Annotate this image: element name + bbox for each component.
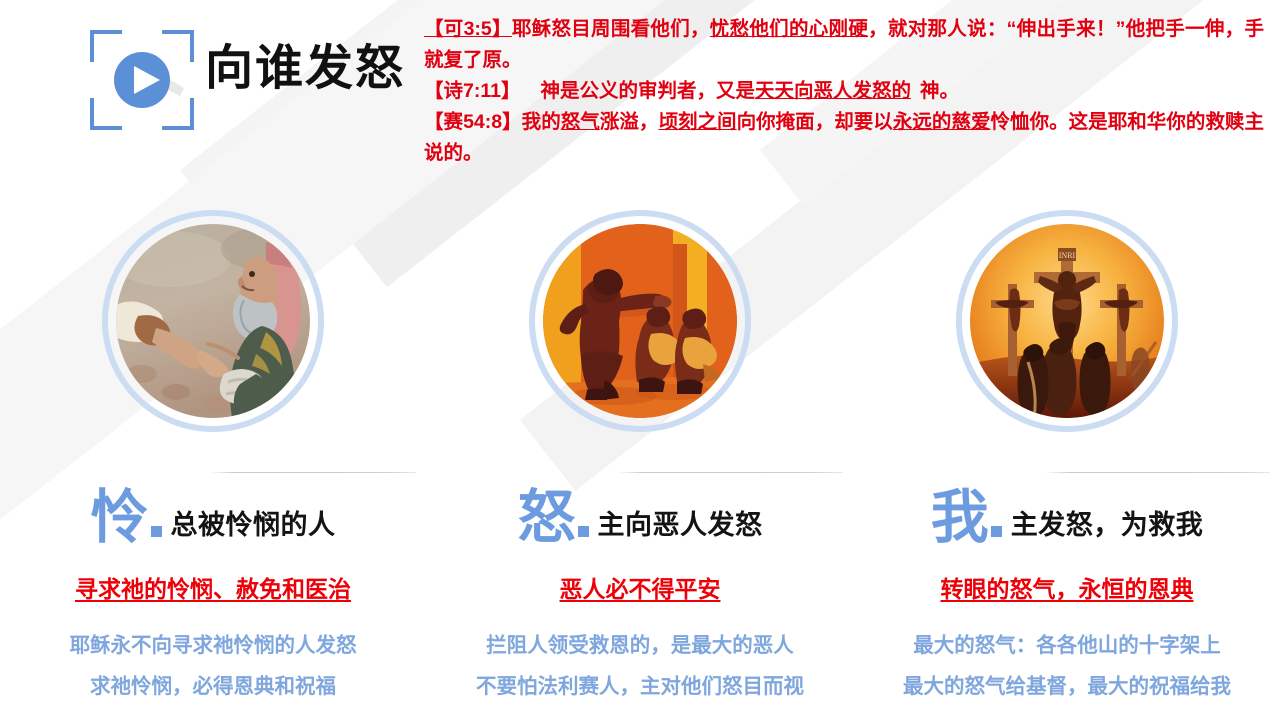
scripture-underline-3b: 顷刻之间: [658, 111, 736, 133]
scripture-ref-2: 【诗7:11】: [424, 80, 520, 102]
scripture-text-2b: 神。: [920, 80, 959, 102]
image-ring-2: [529, 210, 751, 432]
scripture-underline-3a: 怒气: [561, 111, 600, 133]
square-bullet-icon: [578, 526, 589, 537]
heading-divider-1: [210, 472, 416, 473]
scripture-verse-1: 【可3:5】耶稣怒目周围看他们，忧愁他们的心刚硬，就对那人说：“伸出手来！”他把…: [424, 14, 1264, 76]
scripture-verse-2: 【诗7:11】神是公义的审判者，又是天天向恶人发怒的神。: [424, 76, 1264, 107]
column-2: 怒 主向恶人发怒 恶人必不得平安 拦阻人领受救恩的，是最大的恶人 不要怕法利赛人…: [427, 180, 853, 720]
blue-notes-3: 最大的怒气：各各他山的十字架上 最大的怒气给基督，最大的祝福给我: [854, 625, 1280, 707]
square-bullet-icon: [991, 526, 1002, 537]
square-bullet-icon: [151, 526, 162, 537]
scripture-text-3c: 向你掩面，却要以: [737, 111, 893, 133]
column-1: 怜 总被怜悯的人 寻求祂的怜悯、赦免和医治 耶稣永不向寻求祂怜悯的人发怒 求祂怜…: [0, 180, 426, 720]
big-char-3: 我: [931, 491, 989, 544]
big-char-2: 怒: [517, 491, 575, 544]
scripture-verse-3: 【赛54:8】我的怒气涨溢，顷刻之间向你掩面，却要以永远的慈爱怜恤你。这是耶和华…: [424, 107, 1264, 169]
scripture-underline-2a: 天天向恶人发怒的: [755, 80, 911, 102]
red-statement-1: 寻求祂的怜悯、赦免和医治: [0, 570, 426, 604]
scripture-underline-3c: 永远的慈爱: [893, 111, 991, 133]
scripture-text-2a: 神是公义的审判者，又是: [540, 80, 755, 102]
scripture-block: 【可3:5】耶稣怒目周围看他们，忧愁他们的心刚硬，就对那人说：“伸出手来！”他把…: [424, 14, 1264, 169]
heading-divider-2: [617, 472, 843, 473]
blue-note-line: 求祂怜悯，必得恩典和祝福: [0, 666, 426, 707]
blue-notes-1: 耶稣永不向寻求祂怜悯的人发怒 求祂怜悯，必得恩典和祝福: [0, 625, 426, 707]
circle-image-1: [102, 210, 324, 432]
image-ring-1: [102, 210, 324, 432]
play-button-in-frame-icon: [88, 26, 196, 134]
heading-divider-3: [1044, 472, 1270, 473]
scripture-text-1a: 耶稣怒目周围看他们，: [512, 18, 710, 40]
circle-image-3: INRI: [956, 210, 1178, 432]
heading-row-2: 怒 主向恶人发怒: [427, 480, 853, 544]
sub-heading-2: 主向恶人发怒: [598, 512, 763, 544]
slide-header: 向谁发怒 【可3:5】耶稣怒目周围看他们，忧愁他们的心刚硬，就对那人说：“伸出手…: [0, 0, 1280, 175]
scripture-ref-1: 【可3:5】: [424, 18, 512, 40]
blue-note-line: 最大的怒气：各各他山的十字架上: [854, 625, 1280, 666]
presentation-slide: 向谁发怒 【可3:5】耶稣怒目周围看他们，忧愁他们的心刚硬，就对那人说：“伸出手…: [0, 0, 1280, 720]
sub-heading-3: 主发怒，为救我: [1011, 512, 1204, 544]
three-point-columns: 怜 总被怜悯的人 寻求祂的怜悯、赦免和医治 耶稣永不向寻求祂怜悯的人发怒 求祂怜…: [0, 180, 1280, 720]
page-title: 向谁发怒: [205, 45, 405, 93]
big-char-1: 怜: [90, 491, 148, 544]
red-statement-3: 转眼的怒气，永恒的恩典: [854, 570, 1280, 604]
blue-note-line: 拦阻人领受救恩的，是最大的恶人: [427, 625, 853, 666]
image-ring-3: [956, 210, 1178, 432]
blue-note-line: 耶稣永不向寻求祂怜悯的人发怒: [0, 625, 426, 666]
blue-note-line: 最大的怒气给基督，最大的祝福给我: [854, 666, 1280, 707]
scripture-ref-3: 【赛54:8】: [424, 111, 522, 133]
blue-note-line: 不要怕法利赛人，主对他们怒目而视: [427, 666, 853, 707]
heading-row-3: 我 主发怒，为救我: [854, 480, 1280, 544]
blue-notes-2: 拦阻人领受救恩的，是最大的恶人 不要怕法利赛人，主对他们怒目而视: [427, 625, 853, 707]
heading-row-1: 怜 总被怜悯的人: [0, 480, 426, 544]
sub-heading-1: 总被怜悯的人: [171, 512, 336, 544]
red-statement-2: 恶人必不得平安: [427, 570, 853, 604]
column-3: INRI: [854, 180, 1280, 720]
scripture-underline-1a: 忧愁他们的心刚硬: [710, 18, 868, 40]
scripture-text-3b: 涨溢，: [600, 111, 659, 133]
scripture-text-3a: 我的: [522, 111, 561, 133]
circle-image-2: [529, 210, 751, 432]
